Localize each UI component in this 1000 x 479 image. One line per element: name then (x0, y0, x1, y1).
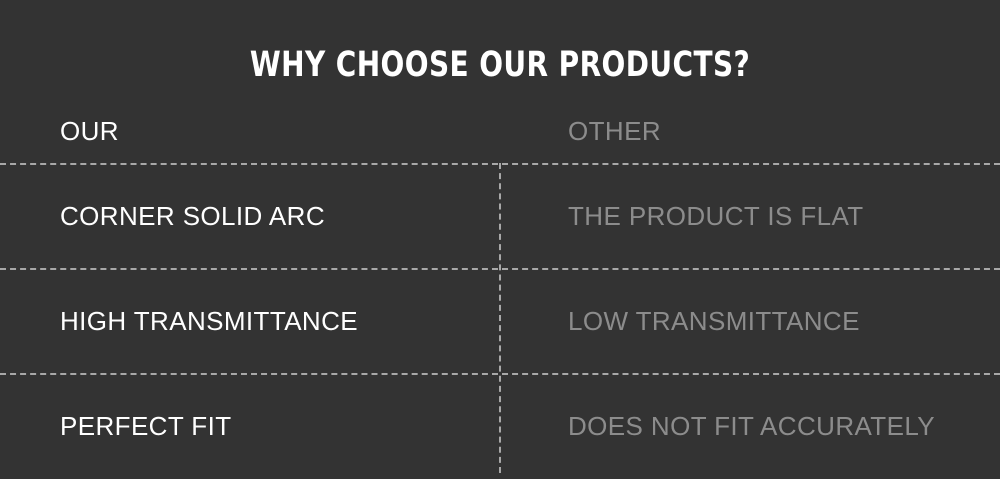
row-cell-our: CORNER SOLID ARC (0, 201, 499, 231)
header-cell-other: OTHER (499, 116, 1000, 146)
row-cell-other: THE PRODUCT IS FLAT (499, 201, 1000, 231)
row-label-other: DOES NOT FIT ACCURATELY (568, 411, 935, 441)
header-label-our: OUR (60, 116, 119, 146)
row-label-our: HIGH TRANSMITTANCE (60, 306, 358, 336)
column-divider (499, 163, 501, 473)
row-cell-our: HIGH TRANSMITTANCE (0, 306, 499, 336)
row-label-our: CORNER SOLID ARC (60, 201, 325, 231)
page-title: WHY CHOOSE OUR PRODUCTS? (100, 44, 900, 86)
header-cell-our: OUR (0, 116, 499, 146)
row-label-other: THE PRODUCT IS FLAT (568, 201, 864, 231)
row-cell-other: LOW TRANSMITTANCE (499, 306, 1000, 336)
row-cell-other: DOES NOT FIT ACCURATELY (499, 411, 1000, 441)
header-label-other: OTHER (568, 116, 661, 146)
comparison-header-row: OUR OTHER (0, 98, 1000, 163)
product-comparison-panel: WHY CHOOSE OUR PRODUCTS? OUR OTHER CORNE… (0, 0, 1000, 479)
row-label-our: PERFECT FIT (60, 411, 231, 441)
row-label-other: LOW TRANSMITTANCE (568, 306, 860, 336)
row-cell-our: PERFECT FIT (0, 411, 499, 441)
